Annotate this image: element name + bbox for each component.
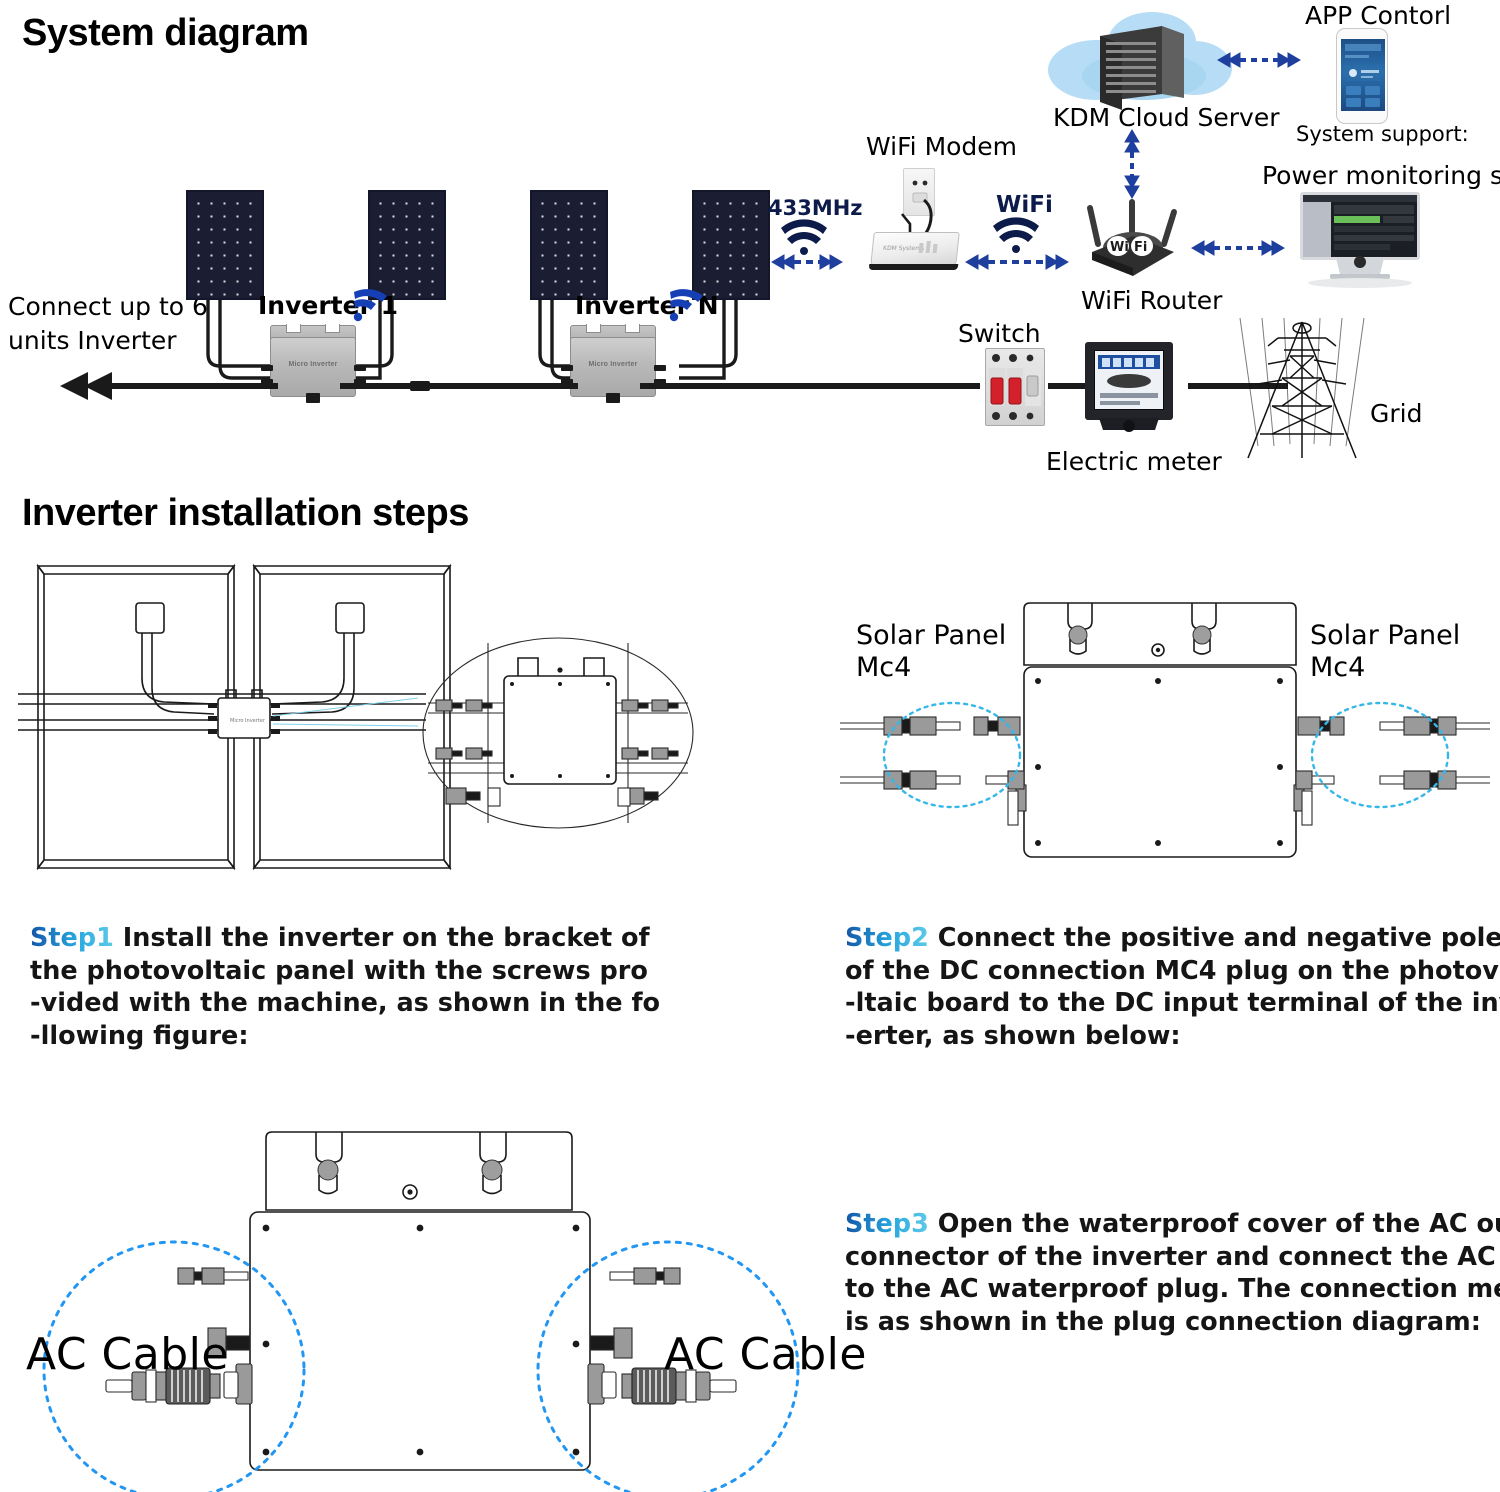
step2-line-2: of the DC connection MC4 plug on the pho… xyxy=(845,955,1500,988)
step3-line-2: connector of the inverter and connect th… xyxy=(845,1241,1500,1274)
wifi-modem-device: KDM Systems xyxy=(870,232,960,266)
step1-installation-figure: Micro Inverter xyxy=(18,548,698,898)
svg-text:Micro Inverter: Micro Inverter xyxy=(230,718,266,724)
step3-right-ac-cable-label: AC Cable xyxy=(664,1330,867,1381)
modem-base-shadow xyxy=(869,264,959,270)
step2-tag: Step2 xyxy=(845,923,929,953)
smartphone-device xyxy=(1336,28,1388,124)
step2-left-label-line-2: Mc4 xyxy=(856,652,911,683)
solar-panel-3 xyxy=(530,190,608,300)
svg-text:KDM Systems: KDM Systems xyxy=(883,245,925,252)
power-monitoring-system-label: Power monitoring system xyxy=(1262,162,1500,191)
frequency-433mhz-label: 433MHz xyxy=(768,196,863,220)
connect-note-line-1: Connect up to 6 xyxy=(8,293,208,322)
step3-ac-cable-figure xyxy=(10,1120,830,1492)
power-grid-tower-icon xyxy=(1238,316,1368,464)
app-control-label: APP Contorl xyxy=(1305,2,1451,31)
step1-line-3: -vided with the machine, as shown in the… xyxy=(30,987,690,1020)
step3-line-4: is as shown in the plug connection diagr… xyxy=(845,1306,1500,1339)
wifi-label: WiFi xyxy=(996,192,1053,218)
step1-line-2: the photovoltaic panel with the screws p… xyxy=(30,955,690,988)
solar-panel-4 xyxy=(692,190,770,300)
electric-meter-device xyxy=(1085,342,1173,434)
step3-line-3: to the AC waterproof plug. The connectio… xyxy=(845,1273,1500,1306)
step3-line-1: Step3 Open the waterproof cover of the A… xyxy=(845,1208,1500,1241)
wifi-signal-icon-inverter-n xyxy=(668,288,708,322)
dashed-arrow-modem-router xyxy=(964,252,1070,272)
step2-right-label-line-1: Solar Panel xyxy=(1310,620,1460,651)
solar-panel-1 xyxy=(186,190,264,300)
dashed-arrow-router-monitor xyxy=(1190,238,1286,258)
page-title-installation-steps: Inverter installation steps xyxy=(22,492,469,535)
grid-label: Grid xyxy=(1370,400,1422,429)
svg-text:Fi: Fi xyxy=(1134,240,1147,255)
dashed-arrow-cloud-app xyxy=(1216,50,1302,70)
inverter-n-body-text: Micro Inverter xyxy=(570,361,656,368)
inverter-1-body-text: Micro Inverter xyxy=(270,361,356,368)
step2-line-4: -erter, as shown below: xyxy=(845,1020,1500,1053)
kdm-cloud-server-label: KDM Cloud Server xyxy=(1053,104,1280,133)
solar-panel-2 xyxy=(368,190,446,300)
wifi-signal-icon-inverter-1 xyxy=(352,288,392,322)
step3-tag: Step3 xyxy=(845,1209,929,1239)
step1-line-4: -llowing figure: xyxy=(30,1020,690,1053)
step1-text-block: Step1 Install the inverter on the bracke… xyxy=(30,922,690,1053)
step1-line-1: Step1 Install the inverter on the bracke… xyxy=(30,922,690,955)
dashed-arrow-router-cloud xyxy=(1122,128,1142,200)
wifi-modem-label: WiFi Modem xyxy=(866,133,1017,162)
step2-line-3: -ltaic board to the DC input terminal of… xyxy=(845,987,1500,1020)
connect-note-line-2: units Inverter xyxy=(8,327,177,356)
switch-label: Switch xyxy=(958,320,1041,349)
breaker-switch-device xyxy=(985,348,1045,426)
wifi-arcs-icon-433mhz xyxy=(783,222,827,256)
step2-text-block: Step2 Connect the positive and negative … xyxy=(845,922,1500,1053)
step1-tag: Step1 xyxy=(30,923,114,953)
electric-meter-label: Electric meter xyxy=(1046,448,1222,477)
step2-left-label-line-1: Solar Panel xyxy=(856,620,1006,651)
dashed-arrow-433mhz xyxy=(770,252,844,272)
wifi-router-device: Wi Fi xyxy=(1078,196,1188,292)
system-support-label: System support: xyxy=(1296,122,1469,146)
monitor-device xyxy=(1300,192,1420,292)
system-diagram-figure: Connect up to 6 units Inverter Inverter … xyxy=(0,0,1500,480)
wifi-arcs-icon-router-link xyxy=(995,220,1039,254)
step2-line-1: Step2 Connect the positive and negative … xyxy=(845,922,1500,955)
svg-text:Wi: Wi xyxy=(1110,240,1129,255)
step3-left-ac-cable-label: AC Cable xyxy=(26,1330,229,1381)
step3-text-block: Step3 Open the waterproof cover of the A… xyxy=(845,1208,1500,1339)
wifi-router-label: WiFi Router xyxy=(1081,287,1222,316)
step2-right-label-line-2: Mc4 xyxy=(1310,652,1365,683)
kdm-cloud-server-icon xyxy=(1044,6,1236,110)
